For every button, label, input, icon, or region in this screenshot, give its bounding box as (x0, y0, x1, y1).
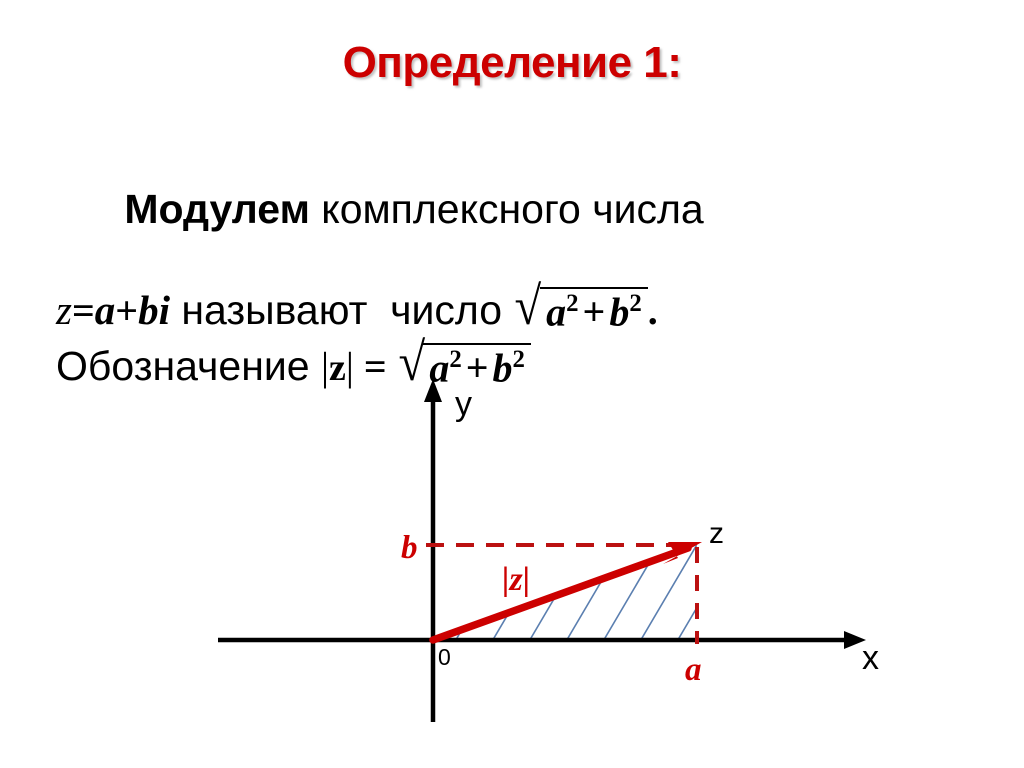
radicand-1-b: b (609, 289, 629, 334)
variable-z: z (56, 290, 72, 331)
sentence-period: . (648, 291, 658, 331)
y-axis-arrow-icon (424, 379, 442, 402)
definition-text-block: Модулем комплексного числа z=a+bi называ… (56, 148, 996, 387)
variable-bi: bi (138, 290, 170, 331)
label-origin: 0 (438, 644, 451, 670)
radicand-1-b-exponent: 2 (629, 290, 641, 317)
radicand-2-a-exponent: 2 (449, 346, 461, 373)
label-real-part-a: a (685, 652, 702, 688)
label-modulus: |z| (502, 561, 530, 598)
definition-line-1-rest: комплексного числа (310, 186, 704, 232)
complex-plane-diagram: y x 0 z b a |z| (0, 372, 1024, 768)
plus-sign: + (115, 291, 138, 331)
radicand-2-b-exponent: 2 (513, 346, 525, 373)
variable-a: a (95, 290, 116, 331)
radicand-1-a-exponent: 2 (566, 290, 578, 317)
term-modulus: Модулем (124, 186, 310, 232)
slide-canvas: Определение 1: Модулем комплексного числ… (0, 0, 1024, 768)
label-imaginary-part-b: b (401, 530, 418, 566)
label-x-axis: x (862, 639, 879, 677)
radicand-1: a2+b2 (540, 287, 648, 332)
radicand-1-a: a (546, 289, 566, 334)
equals-sign: = (72, 291, 95, 331)
radical-sign-icon: √ (515, 285, 542, 328)
label-point-z: z (709, 517, 724, 550)
label-y-axis: y (455, 385, 472, 423)
definition-line-2: z=a+bi называют число √ a2+b2 . (56, 285, 996, 331)
definition-line-1: Модулем комплексного числа (56, 148, 996, 271)
radicand-1-plus: + (579, 289, 610, 334)
page-title: Определение 1: (0, 38, 1024, 88)
radical-expression-1: √ a2+b2 (513, 287, 647, 332)
hatch-fill (400, 502, 796, 672)
phrase-called: называют число (170, 290, 514, 331)
